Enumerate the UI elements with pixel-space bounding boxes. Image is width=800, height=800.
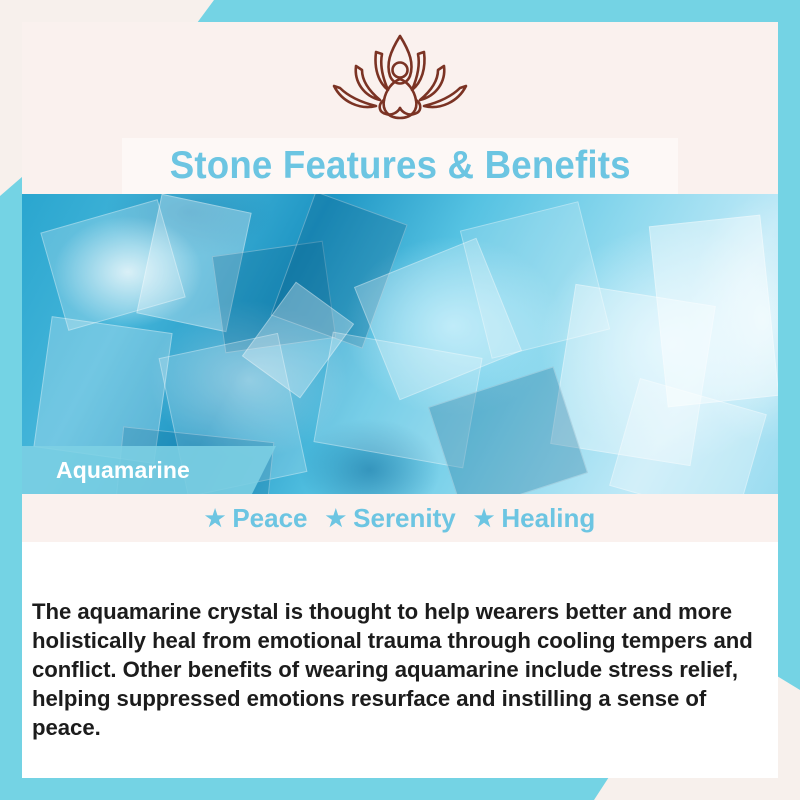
stone-name-banner: Aquamarine [22, 446, 276, 494]
content-card: BUDDHA STONES Stone Features & Benefits [22, 22, 778, 778]
keyword-label: Healing [501, 503, 595, 534]
keyword-item-serenity: ★ Serenity [326, 503, 456, 534]
title-banner: Stone Features & Benefits [122, 138, 678, 194]
star-icon: ★ [326, 507, 347, 530]
keyword-label: Peace [232, 503, 307, 534]
page-title: Stone Features & Benefits [169, 144, 630, 188]
star-icon: ★ [205, 507, 226, 530]
keyword-item-healing: ★ Healing [474, 503, 596, 534]
star-icon: ★ [474, 507, 495, 530]
stone-features-infographic: BUDDHA STONES Stone Features & Benefits [0, 0, 800, 800]
lotus-meditation-icon [320, 30, 480, 134]
stone-name: Aquamarine [22, 457, 190, 484]
crystal-facet [649, 215, 778, 408]
description-section: The aquamarine crystal is thought to hel… [22, 542, 778, 778]
stone-photo: Aquamarine [22, 194, 778, 494]
keyword-list: ★ Peace ★ Serenity ★ Healing [22, 494, 778, 542]
brand-logo: BUDDHA STONES [22, 30, 778, 154]
keyword-item-peace: ★ Peace [205, 503, 308, 534]
description-text: The aquamarine crystal is thought to hel… [32, 597, 763, 742]
keyword-label: Serenity [353, 503, 456, 534]
